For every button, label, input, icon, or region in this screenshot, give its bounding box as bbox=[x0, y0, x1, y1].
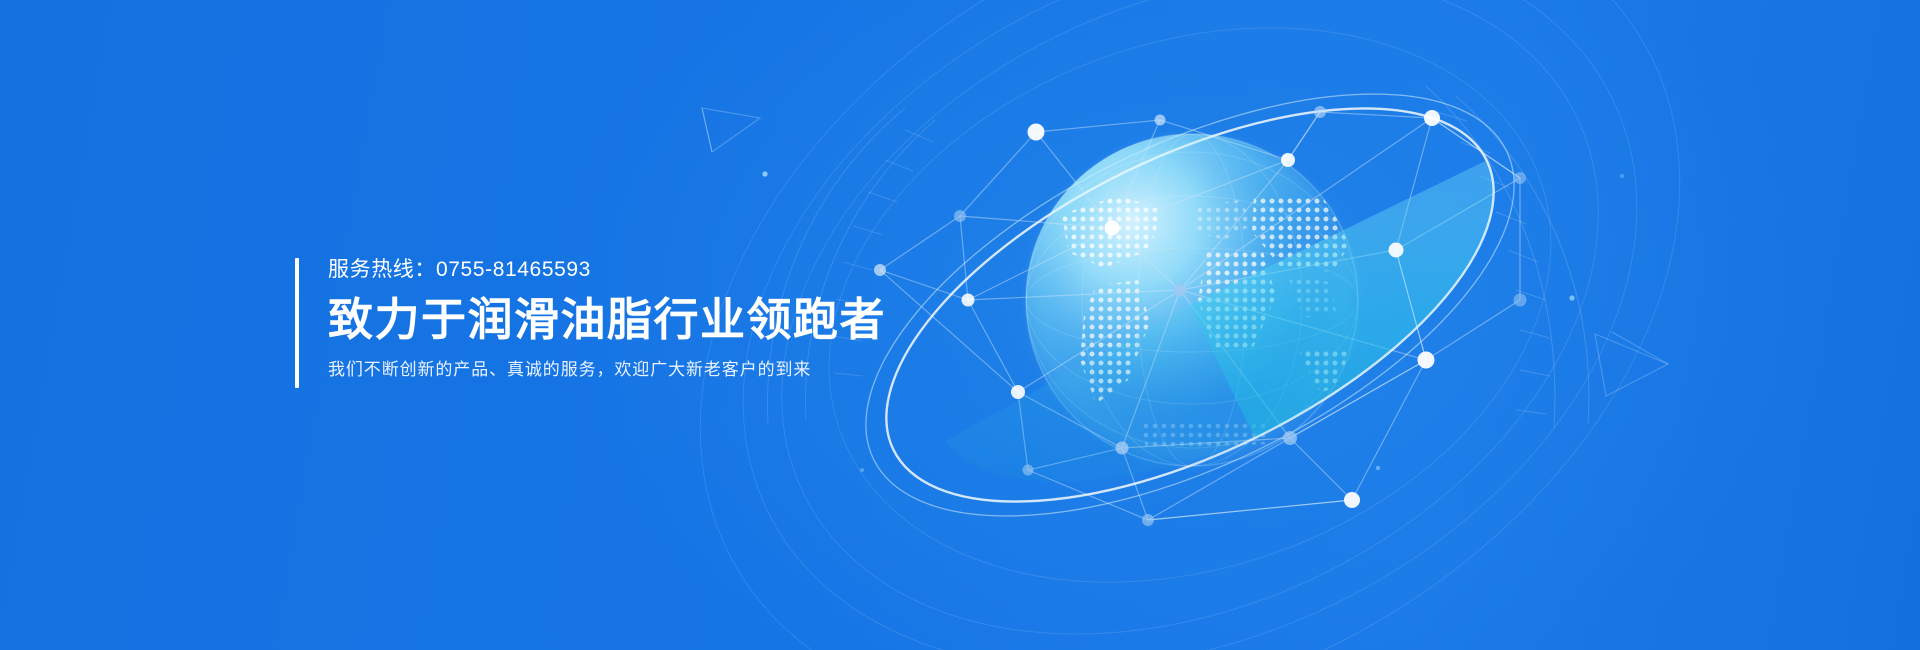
hotline-text: 服务热线：0755-81465593 bbox=[328, 255, 886, 285]
subtitle-text: 我们不断创新的产品、真诚的服务，欢迎广大新老客户的到来 bbox=[328, 357, 886, 383]
accent-bar bbox=[295, 258, 299, 388]
banner-text-block: 服务热线：0755-81465593 致力于润滑油脂行业领跑者 我们不断创新的产… bbox=[295, 255, 886, 389]
headline-text: 致力于润滑油脂行业领跑者 bbox=[328, 292, 886, 348]
hero-banner: 服务热线：0755-81465593 致力于润滑油脂行业领跑者 我们不断创新的产… bbox=[0, 0, 1920, 650]
globe-network-graphic bbox=[0, 0, 1920, 650]
